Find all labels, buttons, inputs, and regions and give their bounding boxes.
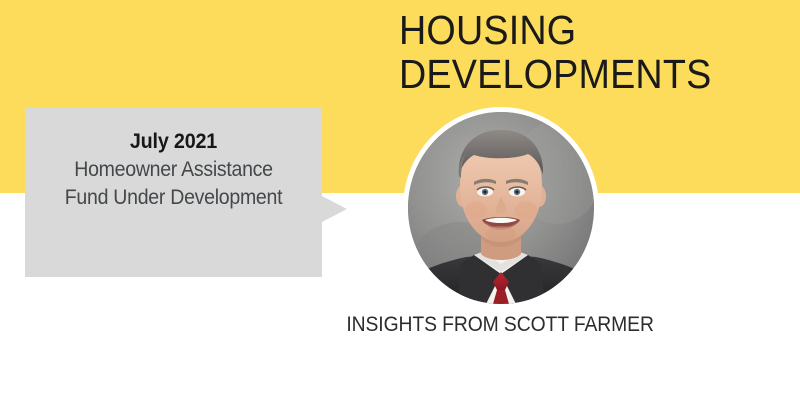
page-title-line-1: HOUSING bbox=[399, 8, 767, 52]
callout-body-line-2: Fund Under Development bbox=[35, 184, 311, 212]
callout-date: July 2021 bbox=[34, 128, 313, 156]
headshot-photo bbox=[408, 112, 594, 304]
page-title: HOUSING DEVELOPMENTS bbox=[399, 8, 767, 96]
headshot-illustration bbox=[408, 112, 594, 304]
newsletter-banner-canvas: HOUSING DEVELOPMENTS July 2021 Homeowner… bbox=[0, 0, 800, 400]
page-title-line-2: DEVELOPMENTS bbox=[399, 52, 767, 96]
photo-caption-text: INSIGHTS FROM SCOTT FARMER bbox=[346, 313, 653, 337]
avatar-ring bbox=[403, 107, 599, 309]
avatar bbox=[403, 107, 599, 309]
callout-tail-icon bbox=[322, 196, 347, 222]
callout-content: July 2021 Homeowner Assistance Fund Unde… bbox=[25, 128, 322, 212]
avatar-clip bbox=[408, 112, 594, 304]
callout-body-line-1: Homeowner Assistance bbox=[35, 156, 311, 184]
photo-caption: INSIGHTS FROM SCOTT FARMER bbox=[300, 313, 700, 337]
